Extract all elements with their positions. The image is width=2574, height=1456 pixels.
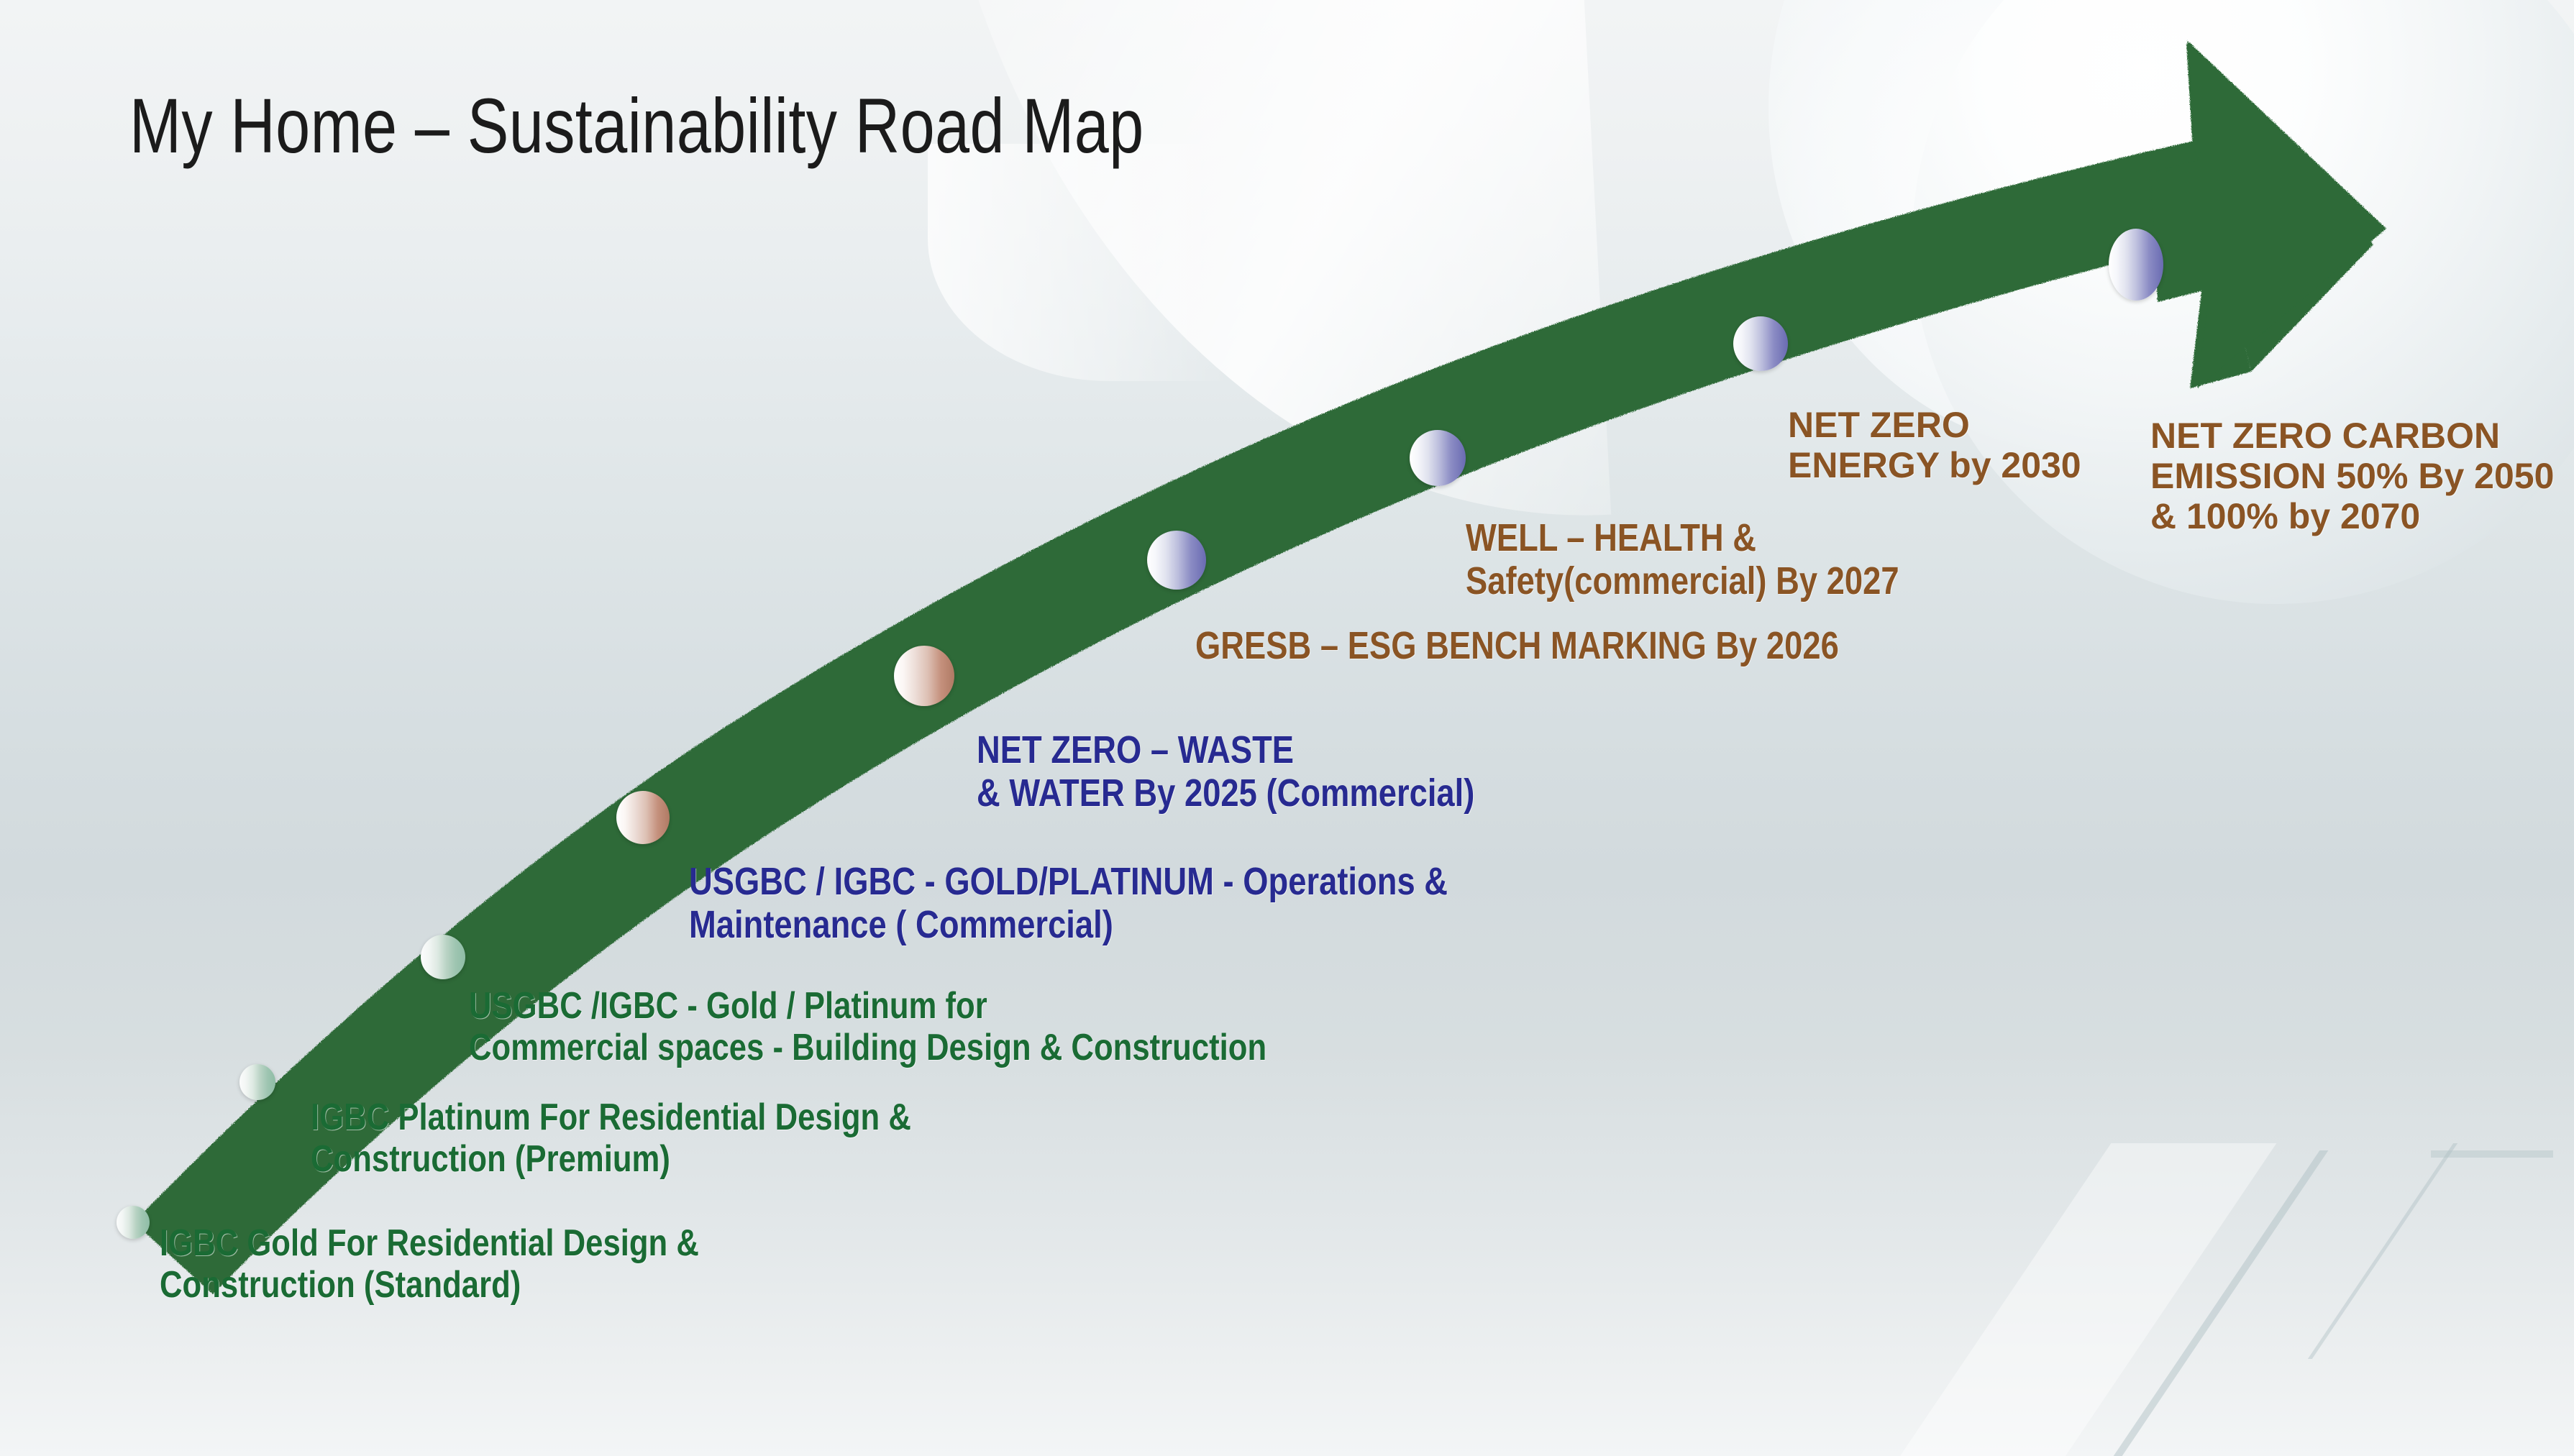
milestone-label-5: NET ZERO – WASTE & WATER By 2025 (Commer… [977, 728, 1641, 815]
milestone-marker-1 [117, 1206, 150, 1239]
milestone-label-1: IGBC Gold For Residential Design & Const… [160, 1222, 885, 1306]
milestone-marker-7 [1410, 430, 1466, 486]
milestone-marker-3 [421, 935, 465, 979]
milestone-label-4: USGBC / IGBC - GOLD/PLATINUM - Operation… [689, 860, 1535, 947]
milestone-marker-4 [616, 791, 670, 844]
milestone-marker-9 [2109, 229, 2163, 301]
milestone-marker-5 [894, 646, 954, 706]
milestone-label-3: USGBC /IGBC - Gold / Platinum for Commer… [469, 985, 1375, 1068]
milestone-marker-6 [1147, 531, 1206, 590]
milestone-label-9: NET ZERO CARBON EMISSION 50% By 2050 & 1… [2150, 416, 2574, 536]
milestone-marker-2 [239, 1064, 275, 1100]
milestone-label-2: IGBC Platinum For Residential Design & C… [311, 1096, 1066, 1180]
milestone-marker-8 [1733, 316, 1788, 371]
sustainability-roadmap-slide: My Home – Sustainability Road Map IGBC G… [0, 0, 2574, 1456]
milestone-label-6: GRESB – ESG BENCH MARKING By 2026 [1195, 624, 1950, 667]
milestone-label-7: WELL – HEALTH & Safety(commercial) By 20… [1466, 516, 2130, 603]
